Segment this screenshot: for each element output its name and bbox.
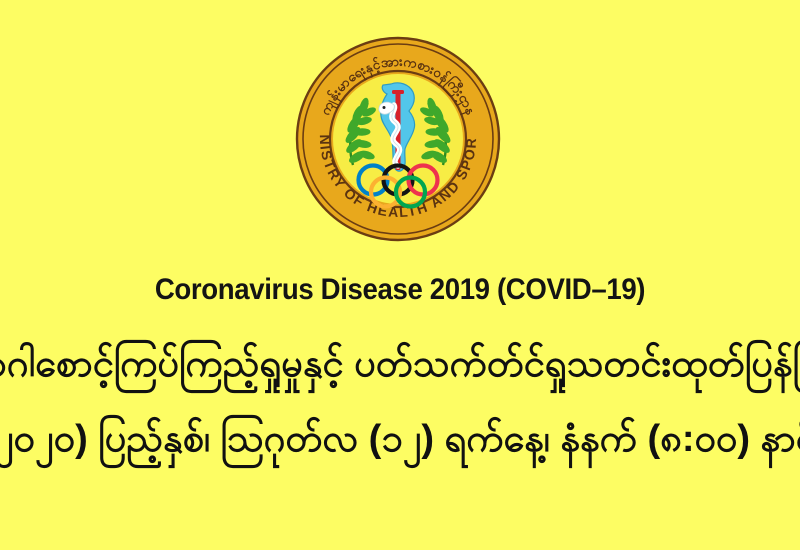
- ministry-seal-logo: ကျန်းမာရေးနှင့်အားကစားဝန်ကြီးဌာန MINISTR…: [295, 36, 501, 242]
- ministry-seal-icon: ကျန်းမာရေးနှင့်အားကစားဝန်ကြီးဌာန MINISTR…: [295, 36, 501, 242]
- burmese-subtitle-line-2: (၂၀၂၀) ပြည့်နှစ်၊ သြဂုတ်လ (၁၂) ရက်နေ့၊ န…: [0, 410, 800, 468]
- covid-announcement-page: ကျန်းမာရေးနှင့်အားကစားဝန်ကြီးဌာန MINISTR…: [0, 0, 800, 550]
- burmese-subtitle-line-1: ရောဂါစောင့်ကြပ်ကြည့်ရှုမှုနှင့် ပတ်သက်တ်…: [0, 335, 800, 393]
- page-title-english: Coronavirus Disease 2019 (COVID–19): [32, 272, 768, 308]
